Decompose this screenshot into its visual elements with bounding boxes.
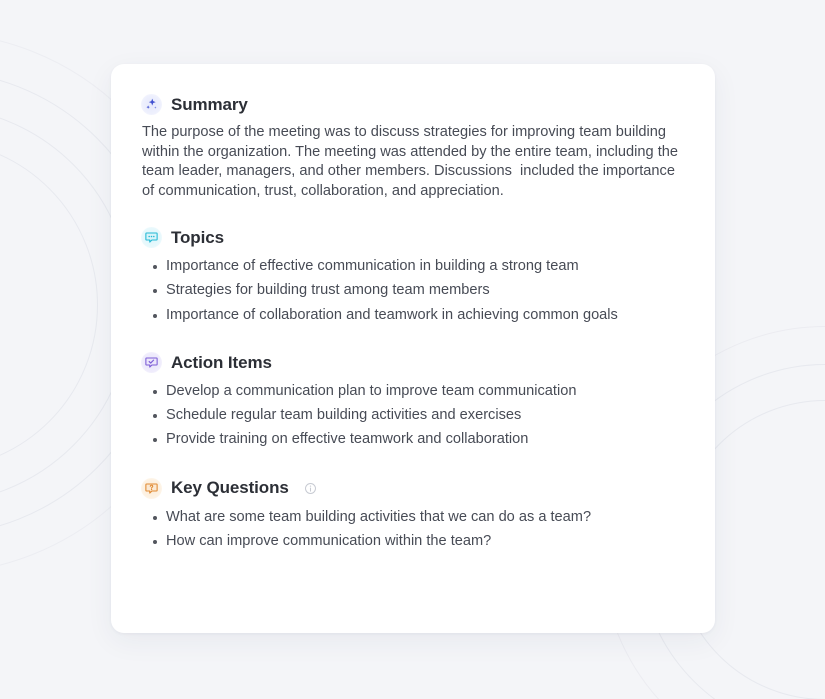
section-title-summary: Summary [171,95,248,115]
list-item: Strategies for building trust among team… [141,281,681,301]
summary-paragraph: The purpose of the meeting was to discus… [141,123,681,201]
list-item: Importance of collaboration and teamwork… [141,306,681,326]
list-item: How can improve communication within the… [141,532,681,552]
chat-bubble-question-icon [141,478,162,499]
section-summary: Summary The purpose of the meeting was t… [141,94,681,201]
section-header-summary: Summary [141,94,681,115]
meeting-notes-card: Summary The purpose of the meeting was t… [111,64,715,633]
decor-ring-left-1 [0,140,98,470]
list-item: Importance of effective communication in… [141,257,681,277]
section-header-action-items: Action Items [141,352,681,373]
section-topics: Topics Importance of effective communica… [141,227,681,325]
list-item: Develop a communication plan to improve … [141,382,681,402]
list-item: What are some team building activities t… [141,508,681,528]
action-items-list: Develop a communication plan to improve … [141,382,681,450]
list-item: Schedule regular team building activitie… [141,406,681,426]
sparkle-icon [141,94,162,115]
section-title-action-items: Action Items [171,353,272,373]
topics-list: Importance of effective communication in… [141,257,681,325]
key-questions-list: What are some team building activities t… [141,508,681,552]
section-header-topics: Topics [141,227,681,248]
section-title-topics: Topics [171,228,224,248]
section-header-key-questions: Key Questions [141,478,681,499]
chat-bubble-check-icon [141,352,162,373]
section-key-questions: Key Questions What are some team buildin… [141,478,681,552]
list-item: Provide training on effective teamwork a… [141,430,681,450]
chat-bubble-dots-icon [141,227,162,248]
section-title-key-questions: Key Questions [171,478,289,498]
info-icon[interactable] [304,482,317,495]
section-action-items: Action Items Develop a communication pla… [141,352,681,450]
